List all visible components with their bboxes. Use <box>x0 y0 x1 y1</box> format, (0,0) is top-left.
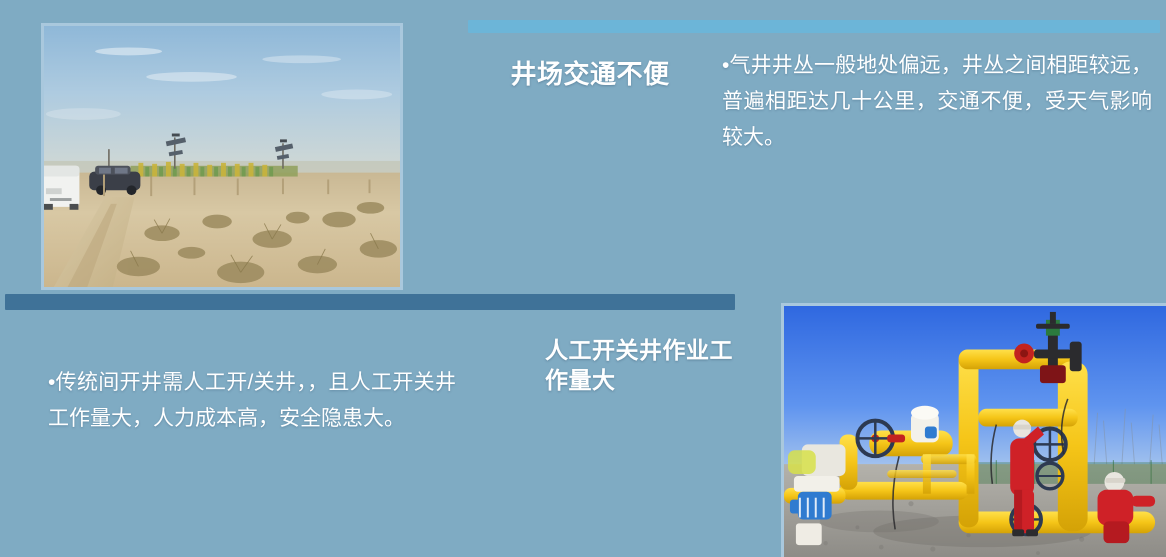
accent-bar-top <box>468 20 1160 33</box>
wellhead-photo-illustration <box>784 306 1166 557</box>
photo-manual-well-operation <box>781 303 1166 557</box>
well-site-photo-illustration <box>44 26 400 287</box>
body-text-manual-well-operation: •传统间开井需人工开/关井，，且人工开关井工作量大，人力成本高，安全隐患大。 <box>48 365 456 437</box>
wellhead-cabinet <box>911 406 939 443</box>
accent-bar-bottom <box>5 294 735 310</box>
body-text-well-site-access: •气井井丛一般地处偏远，井丛之间相距较远，普遍相距达几十公里，交通不便，受天气影… <box>722 48 1152 156</box>
van-shape <box>44 166 79 210</box>
heading-manual-well-operation: 人工开关井作业工作量大 <box>545 336 750 396</box>
photo-well-site-access <box>41 23 403 290</box>
slide-canvas: 井场交通不便 人工开关井作业工作量大 •气井井丛一般地处偏远，井丛之间相距较远，… <box>0 0 1166 557</box>
heading-well-site-access: 井场交通不便 <box>470 58 710 92</box>
